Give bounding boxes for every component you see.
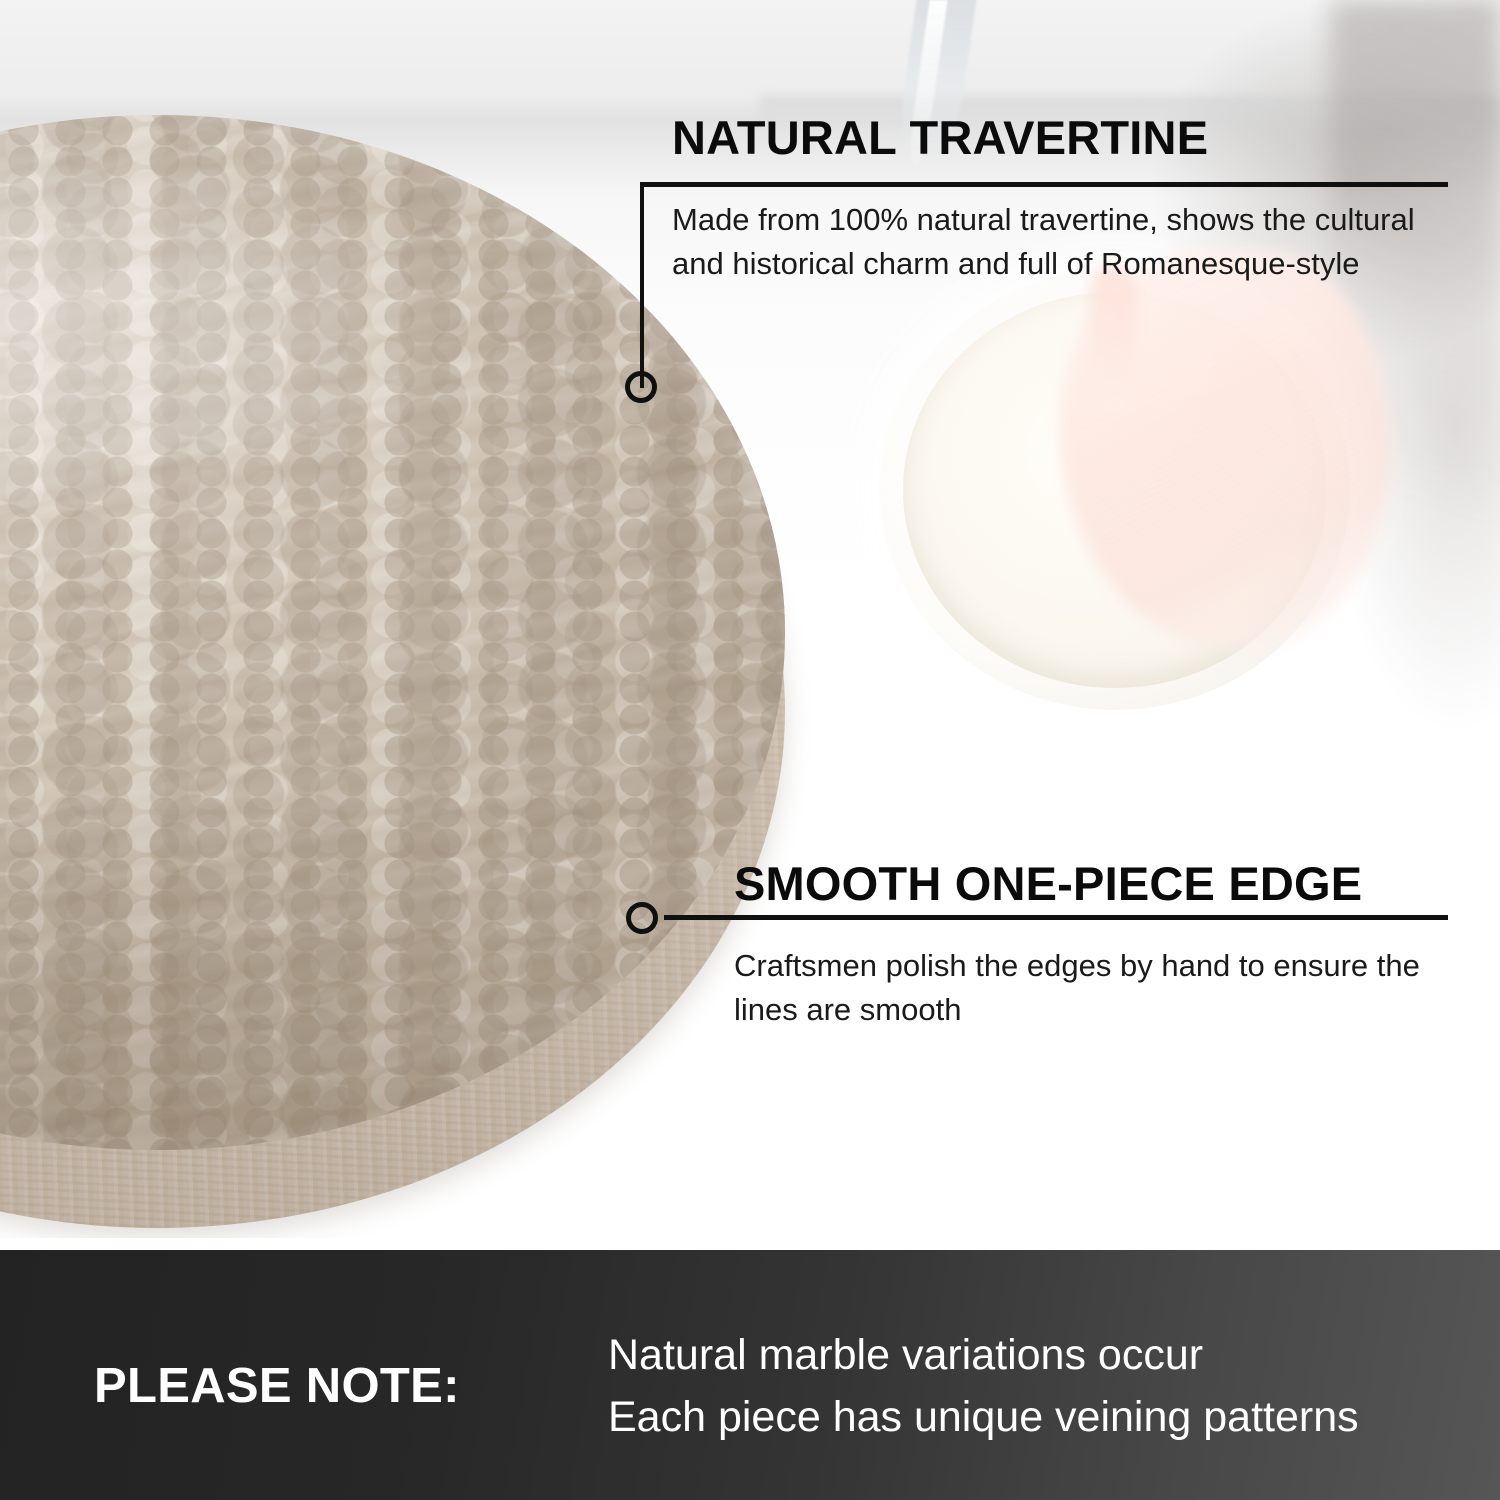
callout-body: Made from 100% natural travertine, shows… [672, 198, 1462, 286]
callout-title: NATURAL TRAVERTINE [672, 110, 1208, 165]
callout-title: SMOOTH ONE-PIECE EDGE [734, 856, 1362, 911]
please-note-lines: Natural marble variations occur Each pie… [608, 1324, 1359, 1449]
please-note-label: PLEASE NOTE: [94, 1358, 460, 1414]
callout-rule [664, 915, 1448, 920]
finger-icon [1090, 265, 1136, 415]
disc-surface [0, 115, 785, 1150]
note-line: Natural marble variations occur [608, 1324, 1359, 1386]
product-infographic: NATURAL TRAVERTINE Made from 100% natura… [0, 0, 1500, 1500]
callout-body: Craftsmen polish the edges by hand to en… [734, 944, 1474, 1032]
note-line: Each piece has unique veining patterns [608, 1386, 1359, 1448]
callout-dot-icon [625, 371, 657, 403]
callout-dot-icon [626, 902, 658, 934]
callout-rule [640, 182, 1448, 187]
travertine-disc [0, 115, 785, 1245]
callout-leader-line [640, 182, 644, 388]
